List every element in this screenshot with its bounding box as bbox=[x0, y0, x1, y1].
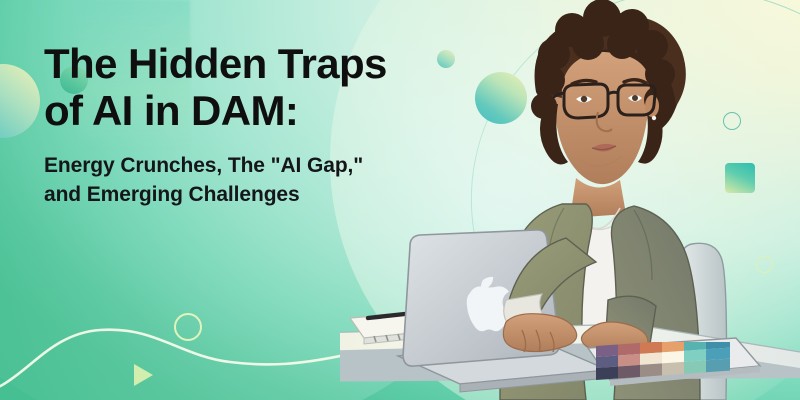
person-head bbox=[531, 0, 686, 184]
wave-line-decor bbox=[0, 290, 340, 400]
headline-line-1: The Hidden Traps bbox=[44, 40, 387, 87]
blog-banner: The Hidden Traps of AI in DAM: Energy Cr… bbox=[0, 0, 800, 400]
subhead-line-1: Energy Crunches, The "AI Gap," bbox=[44, 154, 363, 177]
illustration bbox=[340, 0, 800, 400]
